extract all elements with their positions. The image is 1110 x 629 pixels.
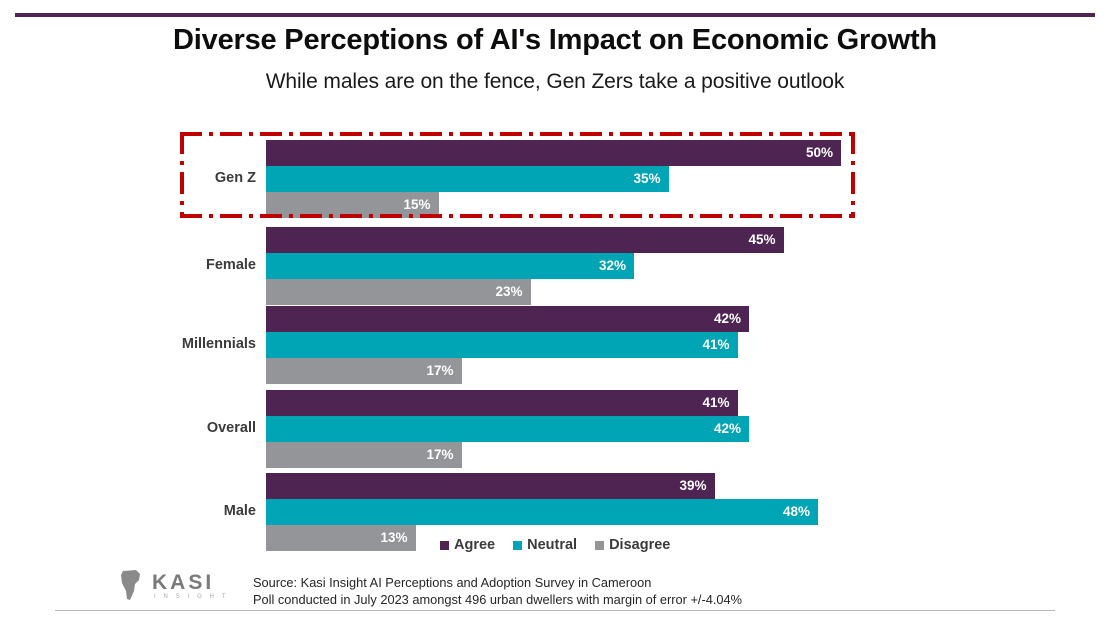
logo-tagline: I N S I G H T [154,593,229,601]
category-label: Millennials [90,334,256,354]
logo-wordmark: KASI [152,572,214,594]
bar-value-label: 17% [426,358,453,384]
bar-disagree[interactable]: 17% [266,442,462,468]
bar-disagree[interactable]: 23% [266,279,531,305]
bar-value-label: 41% [702,390,729,416]
africa-map-icon [120,569,150,603]
legend-item-disagree[interactable]: Disagree [595,537,670,553]
bar-disagree[interactable]: 13% [266,525,416,551]
footer-divider [55,610,1055,611]
bar-neutral[interactable]: 42% [266,416,749,442]
bar-value-label: 35% [633,166,660,192]
chart-legend: AgreeNeutralDisagree [440,536,670,554]
category-label: Male [90,501,256,521]
bar-chart: Gen Z50%35%15%Female45%32%23%Millennials… [0,0,1110,629]
source-note: Source: Kasi Insight AI Perceptions and … [253,574,742,608]
bar-neutral[interactable]: 41% [266,332,738,358]
bar-value-label: 48% [783,499,810,525]
bar-value-label: 32% [599,253,626,279]
bar-disagree[interactable]: 17% [266,358,462,384]
legend-item-neutral[interactable]: Neutral [513,537,577,553]
bar-agree[interactable]: 45% [266,227,784,253]
bar-group-female: Female45%32%23% [0,227,1110,305]
bar-value-label: 17% [426,442,453,468]
bar-value-label: 50% [806,140,833,166]
legend-label: Disagree [609,537,670,553]
bar-agree[interactable]: 39% [266,473,715,499]
bar-value-label: 42% [714,306,741,332]
bar-neutral[interactable]: 48% [266,499,818,525]
source-line-2: Poll conducted in July 2023 amongst 496 … [253,591,742,608]
bar-group-millennials: Millennials42%41%17% [0,306,1110,384]
bar-value-label: 39% [679,473,706,499]
bar-neutral[interactable]: 35% [266,166,669,192]
legend-item-agree[interactable]: Agree [440,537,495,553]
bar-neutral[interactable]: 32% [266,253,634,279]
kasi-logo: KASI I N S I G H T [120,569,240,605]
legend-label: Neutral [527,537,577,553]
bar-agree[interactable]: 50% [266,140,841,166]
bar-value-label: 23% [495,279,522,305]
bar-value-label: 41% [702,332,729,358]
category-label: Female [90,255,256,275]
bar-value-label: 13% [380,525,407,551]
legend-swatch-icon [440,541,449,550]
legend-swatch-icon [513,541,522,550]
source-line-1: Source: Kasi Insight AI Perceptions and … [253,574,742,591]
bar-value-label: 45% [748,227,775,253]
legend-swatch-icon [595,541,604,550]
bar-group-overall: Overall41%42%17% [0,390,1110,468]
bar-agree[interactable]: 41% [266,390,738,416]
bar-value-label: 42% [714,416,741,442]
category-label: Overall [90,418,256,438]
bar-value-label: 15% [403,192,430,218]
bar-group-gen-z: Gen Z50%35%15% [0,140,1110,218]
bar-disagree[interactable]: 15% [266,192,439,218]
bar-agree[interactable]: 42% [266,306,749,332]
category-label: Gen Z [90,168,256,188]
slide-canvas: Diverse Perceptions of AI's Impact on Ec… [0,0,1110,629]
legend-label: Agree [454,537,495,553]
